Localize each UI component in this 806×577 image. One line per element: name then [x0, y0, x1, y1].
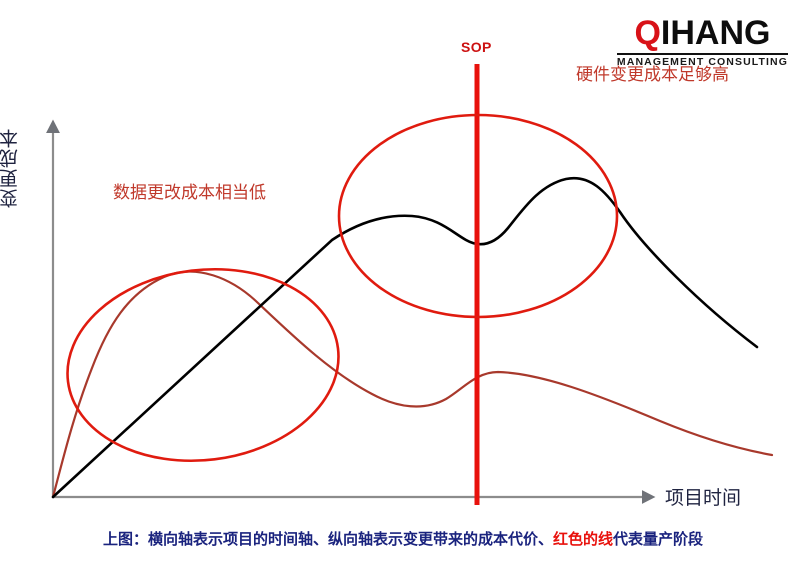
caption-tail: 代表量产阶段: [613, 531, 703, 548]
caption-lead: 上图：横向轴表示项目的时间轴、纵向轴表示变更带来的成本代价、: [103, 531, 553, 548]
logo-accent-letter: Q: [634, 14, 660, 52]
caption-highlight: 红色的线: [553, 531, 613, 548]
x-axis-label: 项目时间: [665, 483, 741, 510]
annotation-data-cost: 数据更改成本相当低: [113, 178, 266, 203]
logo-wordmark-rest: IHANG: [661, 14, 771, 52]
figure-caption: 上图：横向轴表示项目的时间轴、纵向轴表示变更带来的成本代价、红色的线代表量产阶段: [0, 528, 806, 549]
y-axis-label: 变更成本: [0, 128, 117, 208]
logo-divider: [617, 53, 788, 55]
annotation-hardware-cost: 硬件变更成本足够高: [576, 60, 729, 85]
hardware-change-cost-curve: [53, 178, 757, 497]
logo-wordmark: QIHANG: [617, 16, 788, 50]
sop-label: SOP: [461, 39, 492, 55]
low-data-change-cost-ellipse: [56, 254, 349, 476]
